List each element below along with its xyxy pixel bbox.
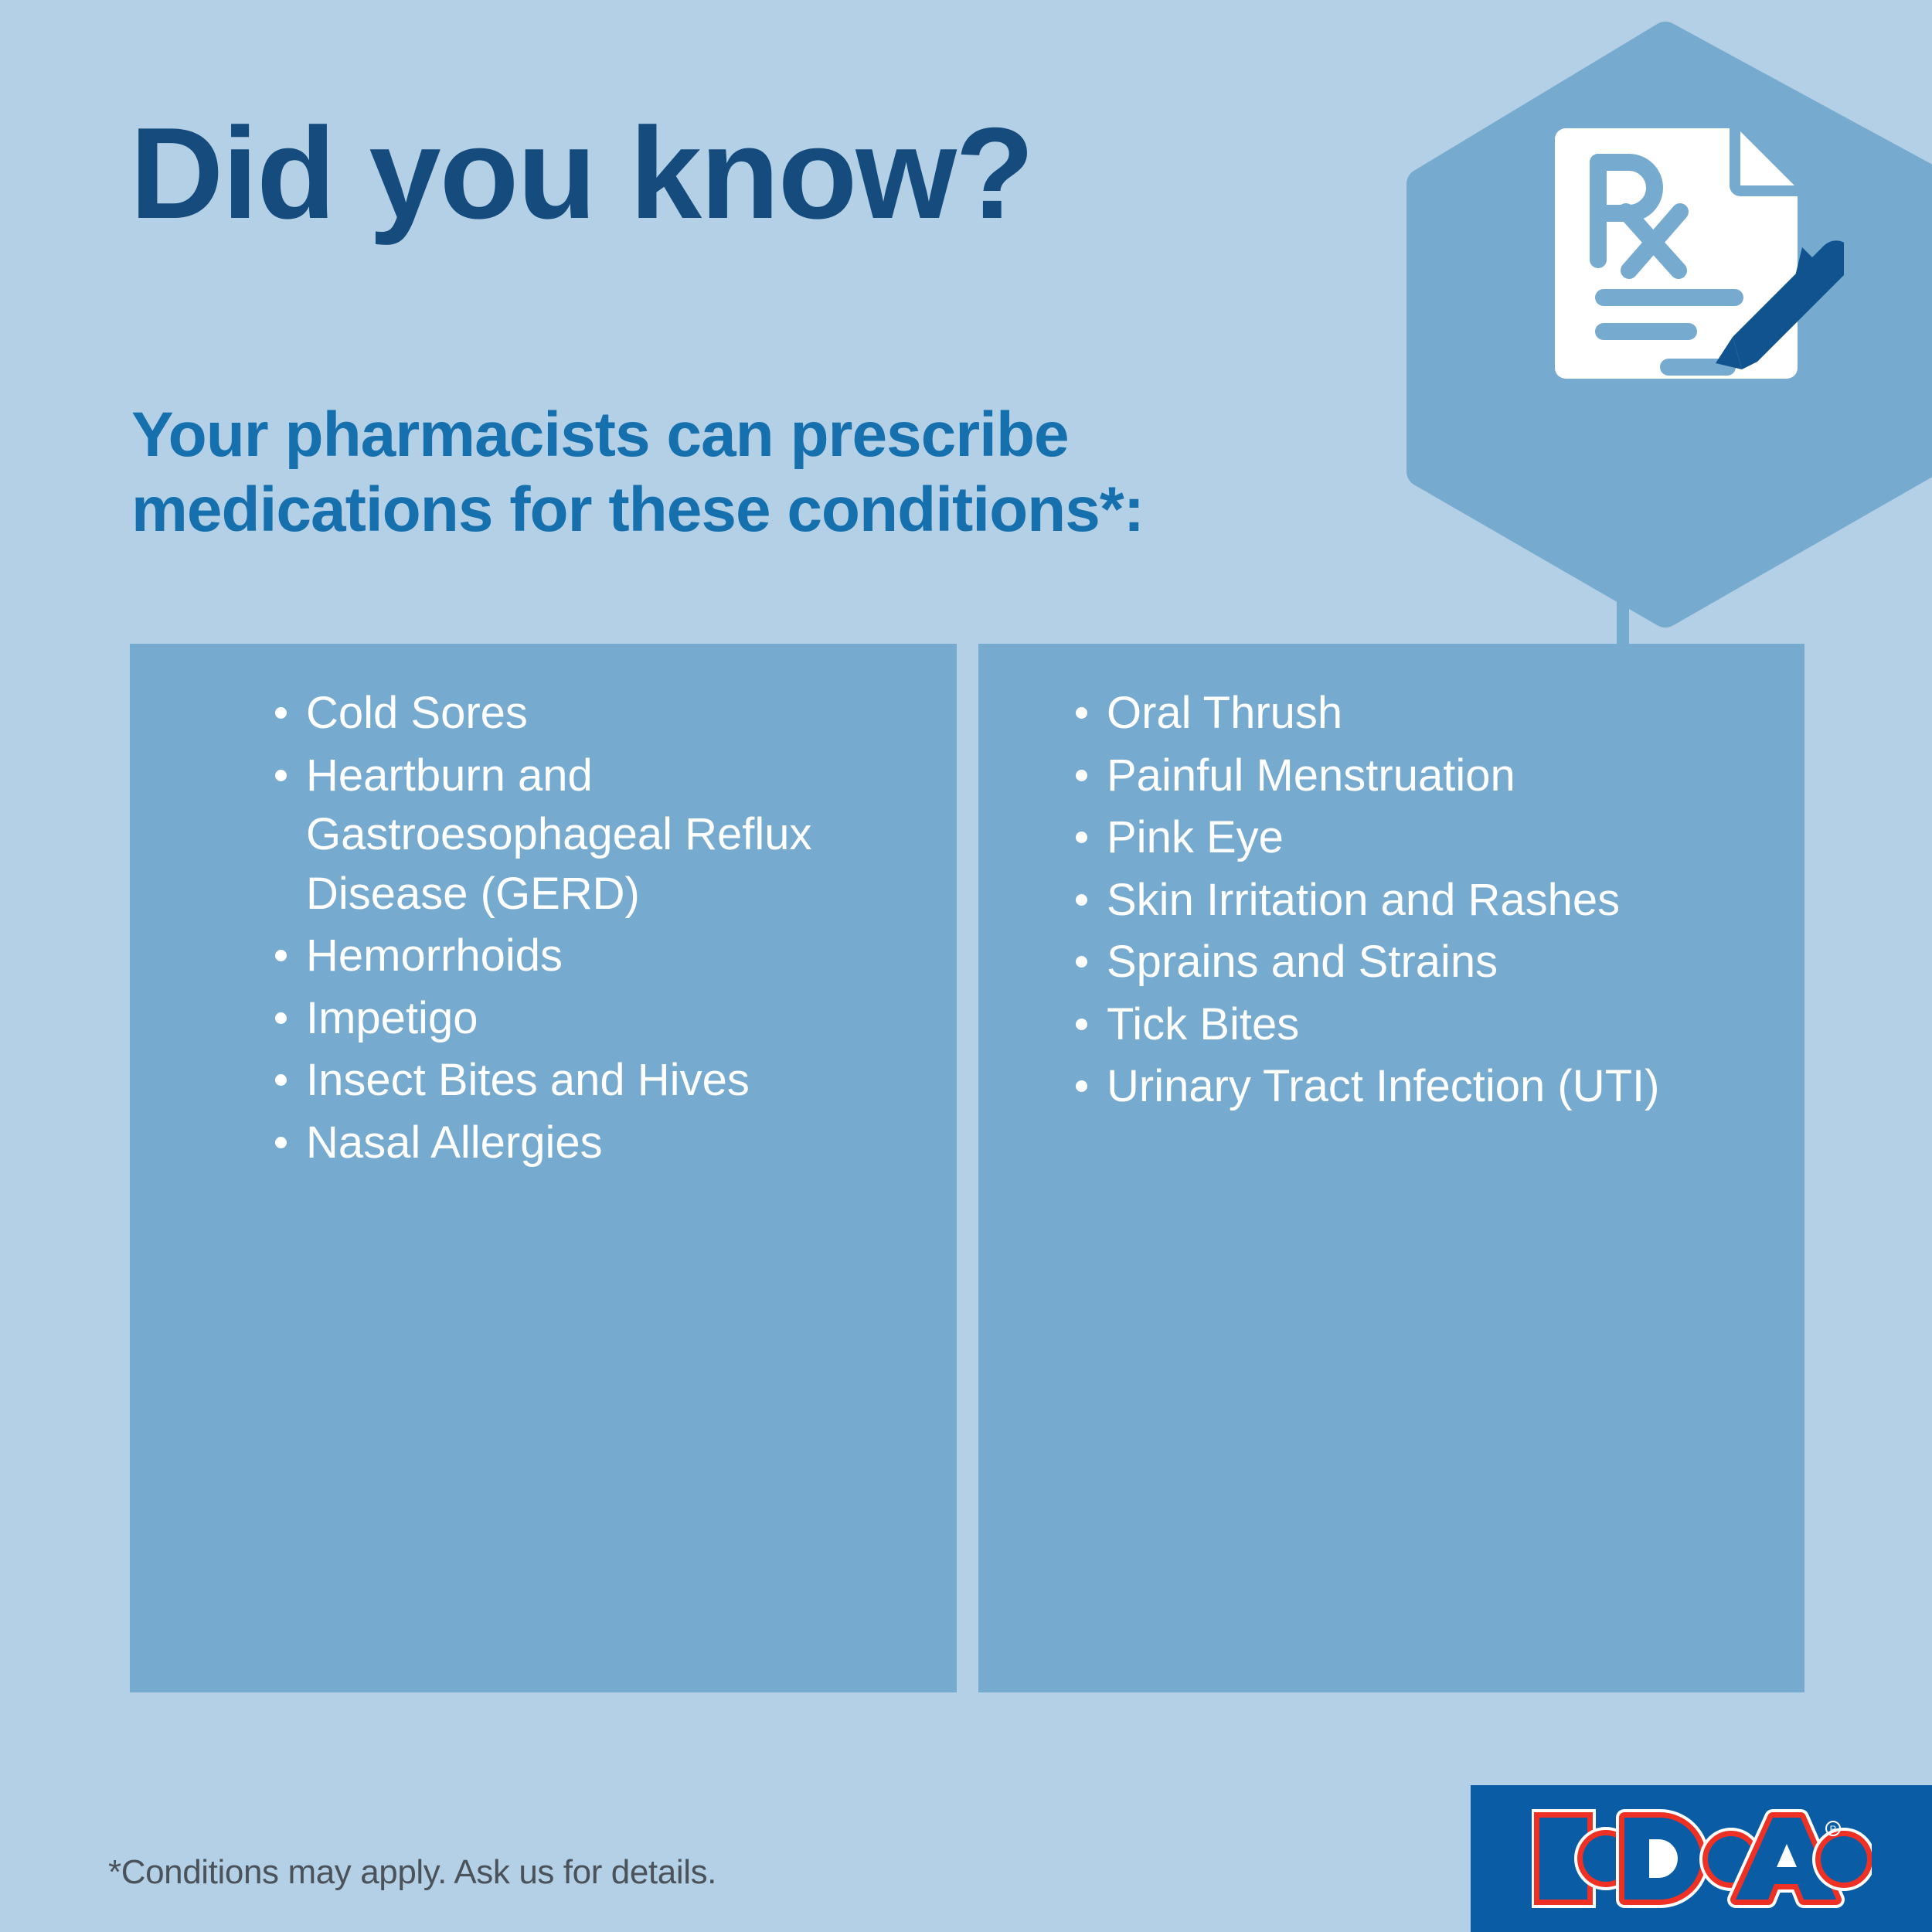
conditions-list-right: Oral Thrush Painful Menstruation Pink Ey…	[1070, 684, 1750, 1117]
conditions-panel-right: Oral Thrush Painful Menstruation Pink Ey…	[978, 644, 1804, 1692]
list-item: Painful Menstruation	[1070, 747, 1750, 806]
footnote-text: *Conditions may apply. Ask us for detail…	[108, 1853, 716, 1892]
list-item: Cold Sores	[269, 684, 903, 743]
page-title: Did you know?	[130, 108, 1033, 238]
list-item: Sprains and Strains	[1070, 933, 1750, 992]
page-subtitle-line-2: medications for these conditions*:	[131, 473, 1144, 548]
list-item: Skin Irritation and Rashes	[1070, 871, 1750, 930]
document-folded-corner-shape	[1740, 131, 1794, 185]
list-item: Pink Eye	[1070, 808, 1750, 868]
list-item: Heartburn and Gastroesophageal Reflux Di…	[269, 747, 903, 924]
list-item: Impetigo	[269, 989, 903, 1049]
prescription-document-with-pen-icon	[1543, 114, 1844, 416]
conditions-list-left: Cold Sores Heartburn and Gastroesophagea…	[269, 684, 903, 1172]
document-line-2	[1595, 323, 1697, 340]
list-item: Oral Thrush	[1070, 684, 1750, 743]
page-subtitle-line-1: Your pharmacists can prescribe	[131, 398, 1144, 473]
svg-text:R: R	[1829, 1824, 1836, 1835]
ida-logo: R	[1471, 1785, 1932, 1932]
list-item: Nasal Allergies	[269, 1114, 903, 1173]
conditions-panels: Cold Sores Heartburn and Gastroesophagea…	[130, 644, 1804, 1692]
page-subtitle: Your pharmacists can prescribe medicatio…	[131, 398, 1144, 548]
document-line-1	[1595, 289, 1743, 306]
list-item: Urinary Tract Infection (UTI)	[1070, 1057, 1750, 1117]
ida-logo-letters	[1539, 1818, 1867, 1900]
logo-dot-3	[1821, 1836, 1867, 1883]
list-item: Insect Bites and Hives	[269, 1051, 903, 1111]
conditions-panel-left: Cold Sores Heartburn and Gastroesophagea…	[130, 644, 957, 1692]
list-item: Hemorrhoids	[269, 927, 903, 986]
list-item: Tick Bites	[1070, 995, 1750, 1055]
logo-letter-d	[1624, 1818, 1701, 1900]
ida-logo-svg: R	[1532, 1808, 1872, 1909]
